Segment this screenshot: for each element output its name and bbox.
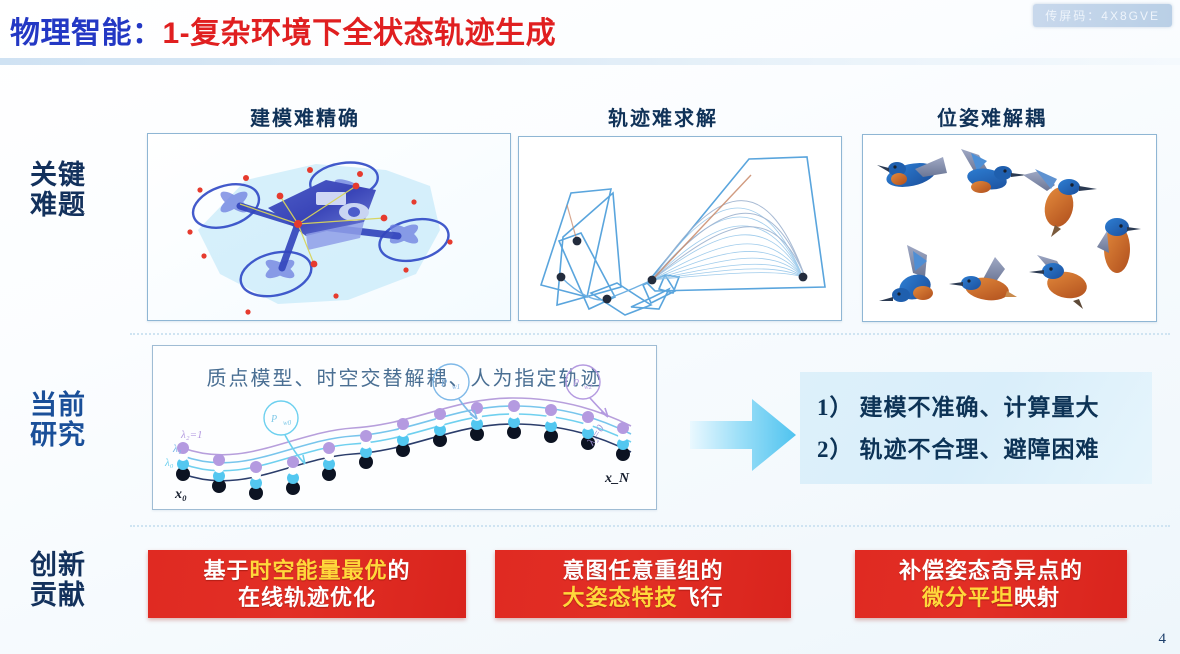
drone-keypoints-figure	[147, 133, 511, 321]
x-start-label: x₀	[174, 487, 187, 502]
innovation-1-line-1: 基于时空能量最优的	[203, 557, 410, 584]
column-header-trajectory: 轨迹难求解	[608, 102, 718, 131]
lambda-0-label: λ₀	[164, 457, 174, 469]
column-header-modeling: 建模难精确	[250, 102, 360, 131]
x-end-label: x_N	[604, 471, 630, 486]
trajectory-corridor-svg	[519, 137, 841, 320]
innovation-2-line-2: 大姿态特技飞行	[562, 584, 723, 611]
waypoint-0-label: P	[270, 414, 277, 425]
text-run: 时空能量最优	[249, 558, 387, 583]
row-label-key-problems: 关键难题	[30, 160, 130, 220]
text-run: 基于	[203, 558, 249, 583]
kingfisher-flight-poses-figure	[862, 134, 1157, 322]
column-header-pose: 位姿难解耦	[937, 102, 1047, 131]
text-run: 微分平坦	[922, 585, 1014, 610]
waypoint-2-label: P	[572, 378, 579, 389]
waypoint-trajectory-svg: P w0 P w1 P w2 λ₀ λ₁ λ₂=1 λ₂=0 x₀ x_N	[153, 346, 656, 509]
text-run: 大姿态特技	[562, 585, 677, 610]
flow-arrow	[690, 393, 798, 477]
innovation-card-3[interactable]: 补偿姿态奇异点的 微分平坦映射	[855, 550, 1127, 618]
innovation-1-line-2: 在线轨迹优化	[238, 584, 376, 611]
conclusion-2-text: 轨迹不合理、避障困难	[860, 436, 1100, 462]
current-research-conclusions-panel: 1）建模不准确、计算量大 2）轨迹不合理、避障困难	[800, 372, 1152, 484]
innovation-2-line-1: 意图任意重组的	[562, 557, 723, 584]
section-divider-2	[130, 525, 1170, 527]
row-label-innovation: 创新贡献	[30, 550, 130, 610]
current-research-figure-box: 质点模型、时空交替解耦、人为指定轨迹	[152, 345, 657, 510]
trajectory-corridor-figure	[518, 136, 842, 321]
drone-keypoints-svg	[148, 134, 510, 320]
conclusion-item-1: 1）建模不准确、计算量大	[817, 388, 1100, 422]
text-run: 补偿姿态奇异点的	[899, 558, 1083, 583]
row-label-current-research: 当前研究	[30, 390, 130, 450]
screen-share-code-watermark: 传屏码：4X8GVE	[1033, 4, 1172, 27]
page-title: 物理智能：1-复杂环境下全状态轨迹生成	[10, 8, 556, 52]
right-arrow-icon	[690, 393, 798, 477]
title-underline-rule	[0, 58, 1180, 65]
innovation-card-1[interactable]: 基于时空能量最优的 在线轨迹优化	[148, 550, 466, 618]
page-title-prefix: 物理智能：	[10, 17, 163, 50]
page-title-main: 1-复杂环境下全状态轨迹生成	[163, 17, 557, 50]
lambda-2-left-label: λ₂=1	[180, 429, 203, 441]
text-run: 在线轨迹优化	[238, 585, 376, 610]
kingfisher-poses-svg	[863, 135, 1156, 321]
waypoint-0-sub: w0	[283, 419, 292, 427]
text-run: 意图任意重组的	[562, 558, 723, 583]
text-run: 飞行	[678, 585, 724, 610]
text-run: 映射	[1014, 585, 1060, 610]
waypoint-1-sub: w1	[452, 383, 460, 391]
conclusion-1-text: 建模不准确、计算量大	[860, 394, 1100, 420]
conclusion-2-number: 2）	[817, 437, 854, 462]
text-run: 的	[388, 558, 411, 583]
page-number: 4	[1159, 631, 1167, 648]
waypoint-2-sub: w2	[584, 383, 593, 391]
lambda-1-label: λ₁	[172, 443, 182, 455]
waypoint-1-label: P	[440, 378, 447, 389]
innovation-3-line-1: 补偿姿态奇异点的	[899, 557, 1083, 584]
section-divider-1	[130, 333, 1170, 335]
conclusion-item-2: 2）轨迹不合理、避障困难	[817, 430, 1100, 464]
conclusion-1-number: 1）	[817, 395, 854, 420]
innovation-3-line-2: 微分平坦映射	[922, 584, 1060, 611]
innovation-card-2[interactable]: 意图任意重组的 大姿态特技飞行	[495, 550, 791, 618]
